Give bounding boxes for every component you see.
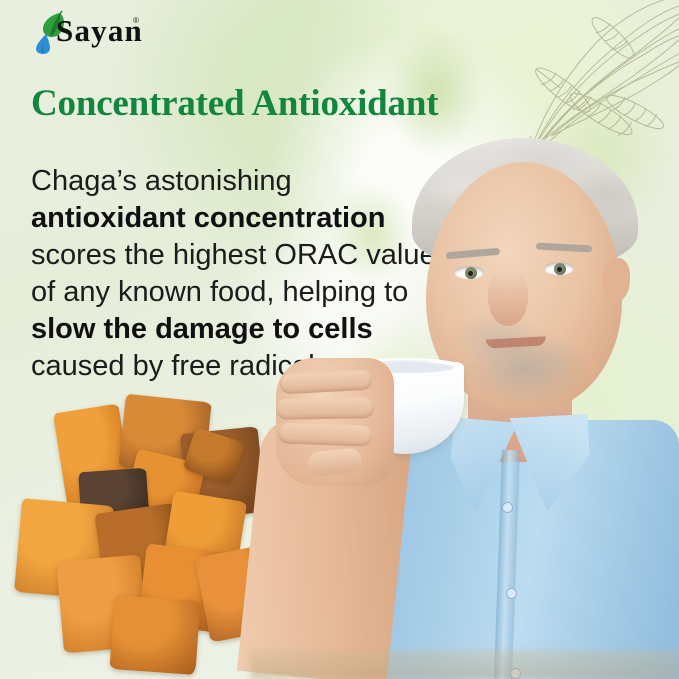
finger <box>276 397 374 420</box>
smiling-mature-man-holding-cup <box>250 120 679 679</box>
shirt-button <box>502 502 513 513</box>
registered-trademark-symbol: ® <box>133 16 139 25</box>
logo-wordmark: Sayan <box>56 13 143 49</box>
page-title: Concentrated Antioxidant <box>31 82 631 125</box>
shirt-button <box>506 588 517 599</box>
ear <box>602 258 630 302</box>
table-surface <box>250 650 679 679</box>
finger <box>278 422 373 446</box>
eye-left <box>454 266 484 279</box>
chaga-chunk <box>110 595 201 675</box>
eye-right <box>544 262 574 275</box>
nose <box>488 270 528 326</box>
brand-logo[interactable]: Sayan ® <box>30 8 160 56</box>
promo-graphic: Sayan ® Concentrated Antioxidant Chaga’s… <box>0 0 679 679</box>
